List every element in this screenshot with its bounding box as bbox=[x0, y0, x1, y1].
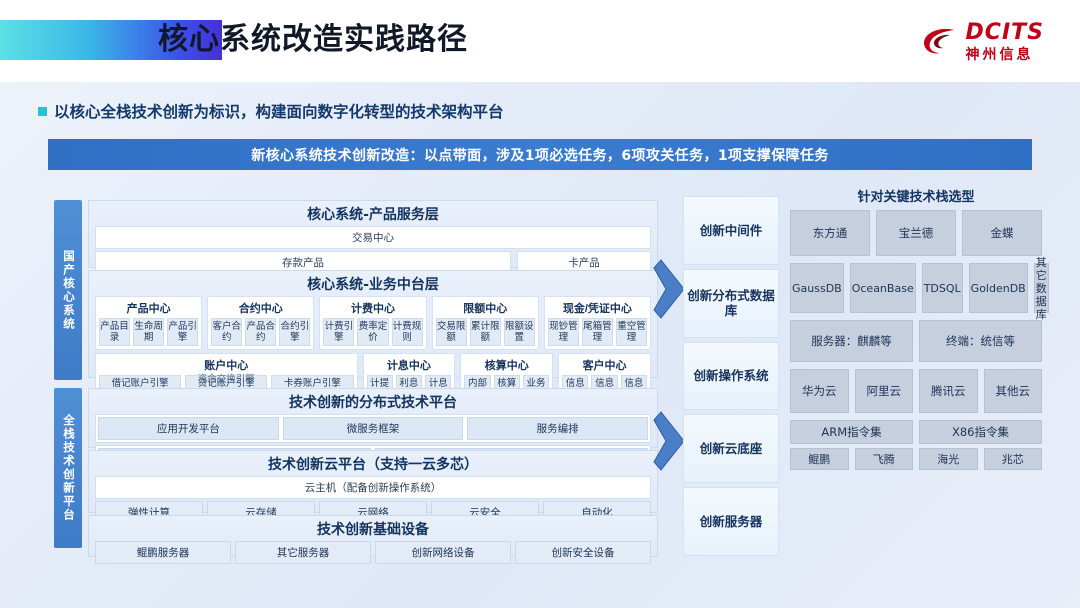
db-gaussdb[interactable]: GaussDB bbox=[790, 263, 844, 313]
center-billing-name: 计费中心 bbox=[323, 299, 422, 318]
citem-limit-1[interactable]: 累计限额 bbox=[470, 318, 501, 346]
isa-arm[interactable]: ARM指令集 bbox=[790, 420, 913, 444]
center-cash-voucher[interactable]: 现金/凭证中心 现钞管理 尾箱管理 重空管理 bbox=[544, 296, 651, 350]
citem-billing-2[interactable]: 计费规则 bbox=[392, 318, 423, 346]
citem-cash-1[interactable]: 尾箱管理 bbox=[582, 318, 613, 346]
center-billing[interactable]: 计费中心 计费引擎 费率定价 计费规则 bbox=[319, 296, 426, 350]
center-product[interactable]: 产品中心 产品目录 生命周期 产品引擎 bbox=[95, 296, 202, 350]
db-tdsql[interactable]: TDSQL bbox=[922, 263, 963, 313]
center-interest-name: 计息中心 bbox=[367, 356, 452, 375]
cloud-alibaba[interactable]: 阿里云 bbox=[855, 369, 914, 413]
cloud-huawei[interactable]: 华为云 bbox=[790, 369, 849, 413]
transaction-center-band: 交易中心 bbox=[95, 226, 651, 249]
midtag-innovative-os[interactable]: 创新操作系统 bbox=[683, 342, 779, 411]
chip-service-orchestration[interactable]: 服务编排 bbox=[467, 417, 648, 440]
page-title: 核心系统改造实践路径 bbox=[158, 18, 468, 62]
chip-vendor-row: 鲲鹏 飞腾 海光 兆芯 bbox=[790, 448, 1042, 470]
center-limit-items: 交易限额 累计限额 限额设置 bbox=[436, 318, 535, 346]
business-middle-layer-title: 核心系统-业务中台层 bbox=[89, 271, 657, 296]
tech-stack-selection-panel: 针对关键技术栈选型 东方通 宝兰德 金蝶 GaussDB OceanBase T… bbox=[790, 186, 1042, 556]
midtag-innovative-distributed-db[interactable]: 创新分布式数据库 bbox=[683, 269, 779, 338]
chip-kunpeng[interactable]: 鲲鹏 bbox=[790, 448, 849, 470]
center-limit-name: 限额中心 bbox=[436, 299, 535, 318]
chip-microservice-framework[interactable]: 微服务框架 bbox=[283, 417, 464, 440]
card-product-label: 卡产品 bbox=[520, 254, 648, 271]
cloud-host-label: 云主机（配备创新操作系统） bbox=[98, 479, 648, 496]
citem-limit-2[interactable]: 限额设置 bbox=[504, 318, 535, 346]
chip-zhaoxin[interactable]: 兆芯 bbox=[984, 448, 1043, 470]
vendor-dongfangtong[interactable]: 东方通 bbox=[790, 210, 870, 256]
product-service-layer-title: 核心系统-产品服务层 bbox=[89, 201, 657, 226]
chevron-right-arrow-icon-2 bbox=[652, 410, 686, 472]
citem-product-2[interactable]: 产品引擎 bbox=[167, 318, 198, 346]
logo-text: DCITS 神州信息 bbox=[966, 22, 1044, 61]
business-middle-layer: 核心系统-业务中台层 产品中心 产品目录 生命周期 产品引擎 合约中心 客户合约… bbox=[88, 270, 658, 378]
citem-contract-2[interactable]: 合约引擎 bbox=[279, 318, 310, 346]
subtitle-text: 以核心全栈技术创新为标识，构建面向数字化转型的技术架构平台 bbox=[54, 100, 504, 122]
db-other[interactable]: 其它数据库 bbox=[1034, 263, 1049, 313]
bml-row-1: 产品中心 产品目录 生命周期 产品引擎 合约中心 客户合约 产品合约 合约引擎 … bbox=[95, 296, 651, 350]
chip-phytium[interactable]: 飞腾 bbox=[855, 448, 914, 470]
chip-hygon[interactable]: 海光 bbox=[919, 448, 978, 470]
page-header: 核心系统改造实践路径 DCITS 神州信息 bbox=[0, 0, 1080, 82]
distributed-tech-platform-title: 技术创新的分布式技术平台 bbox=[89, 389, 657, 414]
fund-exchange-engine-label: 资金交换引擎 bbox=[198, 371, 255, 385]
citem-limit-0[interactable]: 交易限额 bbox=[436, 318, 467, 346]
os-terminal-uos[interactable]: 终端：统信等 bbox=[919, 320, 1042, 362]
citem-billing-0[interactable]: 计费引擎 bbox=[323, 318, 354, 346]
dcits-logo: DCITS 神州信息 bbox=[920, 18, 1044, 64]
chip-other-server[interactable]: 其它服务器 bbox=[235, 541, 371, 564]
infrastructure-title: 技术创新基础设备 bbox=[89, 516, 657, 541]
transaction-center-label: 交易中心 bbox=[98, 229, 648, 246]
cloud-other[interactable]: 其他云 bbox=[984, 369, 1043, 413]
citem-cash-2[interactable]: 重空管理 bbox=[616, 318, 647, 346]
chip-kunpeng-server[interactable]: 鲲鹏服务器 bbox=[95, 541, 231, 564]
highlight-banner: 新核心系统技术创新改造：以点带面，涉及1项必选任务，6项攻关任务，1项支撑保障任… bbox=[48, 139, 1032, 170]
dtp-row-1: 应用开发平台 微服务框架 服务编排 bbox=[98, 417, 648, 440]
midtag-innovative-cloud-base[interactable]: 创新云底座 bbox=[683, 414, 779, 483]
midtag-innovative-server[interactable]: 创新服务器 bbox=[683, 487, 779, 556]
chevron-right-arrow-icon-1 bbox=[652, 258, 686, 320]
middleware-vendor-row: 东方通 宝兰德 金蝶 bbox=[790, 210, 1042, 256]
center-cash-voucher-items: 现钞管理 尾箱管理 重空管理 bbox=[548, 318, 647, 346]
citem-contract-0[interactable]: 客户合约 bbox=[211, 318, 242, 346]
vendor-baolande[interactable]: 宝兰德 bbox=[876, 210, 956, 256]
chip-innovative-network-device[interactable]: 创新网络设备 bbox=[375, 541, 511, 564]
tech-stack-panel-title: 针对关键技术栈选型 bbox=[790, 186, 1042, 205]
cloud-vendor-row: 华为云 阿里云 腾讯云 其他云 bbox=[790, 369, 1042, 413]
chip-app-dev-platform[interactable]: 应用开发平台 bbox=[98, 417, 279, 440]
citem-billing-1[interactable]: 费率定价 bbox=[357, 318, 388, 346]
os-vendor-row: 服务器：麒麟等 终端：统信等 bbox=[790, 320, 1042, 362]
square-bullet-icon bbox=[38, 107, 47, 116]
infrastructure-items-row: 鲲鹏服务器 其它服务器 创新网络设备 创新安全设备 bbox=[95, 541, 651, 564]
citem-contract-1[interactable]: 产品合约 bbox=[245, 318, 276, 346]
side-label-core-system: 国产核心系统 bbox=[54, 200, 82, 380]
product-service-layer: 核心系统-产品服务层 交易中心 存款产品 个人活期 个人定期 对公存款 其他业务… bbox=[88, 200, 658, 268]
db-goldendb[interactable]: GoldenDB bbox=[969, 263, 1028, 313]
deposit-product-label: 存款产品 bbox=[98, 254, 508, 271]
cloud-host-band: 云主机（配备创新操作系统） bbox=[95, 476, 651, 499]
swoosh-logo-icon bbox=[920, 21, 960, 61]
citem-product-1[interactable]: 生命周期 bbox=[133, 318, 164, 346]
instruction-set-row: ARM指令集 X86指令集 bbox=[790, 420, 1042, 444]
db-oceanbase[interactable]: OceanBase bbox=[850, 263, 916, 313]
chip-innovative-security-device[interactable]: 创新安全设备 bbox=[515, 541, 651, 564]
center-billing-items: 计费引擎 费率定价 计费规则 bbox=[323, 318, 422, 346]
os-server-kylin[interactable]: 服务器：麒麟等 bbox=[790, 320, 913, 362]
center-contract-items: 客户合约 产品合约 合约引擎 bbox=[211, 318, 310, 346]
logo-en-label: DCITS bbox=[966, 22, 1044, 44]
center-customer-name: 客户中心 bbox=[562, 356, 647, 375]
cloud-tencent[interactable]: 腾讯云 bbox=[919, 369, 978, 413]
cloud-platform-title: 技术创新云平台（支持一云多芯） bbox=[89, 451, 657, 476]
center-contract[interactable]: 合约中心 客户合约 产品合约 合约引擎 bbox=[207, 296, 314, 350]
vendor-kingdee[interactable]: 金蝶 bbox=[962, 210, 1042, 256]
logo-cn-label: 神州信息 bbox=[966, 47, 1034, 61]
center-product-items: 产品目录 生命周期 产品引擎 bbox=[99, 318, 198, 346]
isa-x86[interactable]: X86指令集 bbox=[919, 420, 1042, 444]
section-subtitle: 以核心全栈技术创新为标识，构建面向数字化转型的技术架构平台 bbox=[38, 100, 504, 122]
architecture-left-panel: 国产核心系统 全栈技术创新平台 核心系统-产品服务层 交易中心 存款产品 个人活… bbox=[48, 192, 658, 555]
center-accounting-name: 核算中心 bbox=[464, 356, 549, 375]
side-label-platform: 全栈技术创新平台 bbox=[54, 388, 82, 548]
distributed-tech-platform: 技术创新的分布式技术平台 应用开发平台 微服务框架 服务编排 创新中间件 创新分… bbox=[88, 388, 658, 448]
citem-cash-0[interactable]: 现钞管理 bbox=[548, 318, 579, 346]
banner-text: 新核心系统技术创新改造：以点带面，涉及1项必选任务，6项攻关任务，1项支撑保障任… bbox=[251, 145, 829, 165]
database-vendor-row: GaussDB OceanBase TDSQL GoldenDB 其它数据库 bbox=[790, 263, 1042, 313]
citem-product-0[interactable]: 产品目录 bbox=[99, 318, 130, 346]
center-limit[interactable]: 限额中心 交易限额 累计限额 限额设置 bbox=[432, 296, 539, 350]
infrastructure-layer: 技术创新基础设备 鲲鹏服务器 其它服务器 创新网络设备 创新安全设备 bbox=[88, 515, 658, 557]
cloud-platform: 技术创新云平台（支持一云多芯） 云主机（配备创新操作系统） 弹性计算 云存储 云… bbox=[88, 450, 658, 513]
midtag-innovative-middleware[interactable]: 创新中间件 bbox=[683, 196, 779, 265]
innovation-tag-column: 创新中间件 创新分布式数据库 创新操作系统 创新云底座 创新服务器 bbox=[683, 196, 779, 556]
center-product-name: 产品中心 bbox=[99, 299, 198, 318]
dtp-band-1: 应用开发平台 微服务框架 服务编排 bbox=[95, 414, 651, 443]
center-contract-name: 合约中心 bbox=[211, 299, 310, 318]
center-cash-voucher-name: 现金/凭证中心 bbox=[548, 299, 647, 318]
